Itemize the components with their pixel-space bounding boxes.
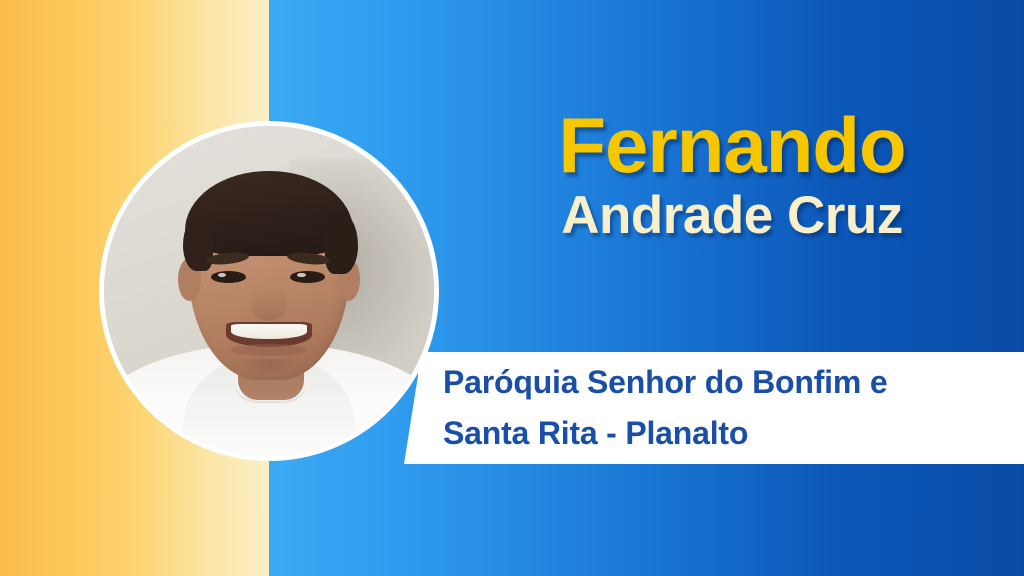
- presenter-last-name: Andrade Cruz: [440, 186, 1024, 246]
- portrait-photo: [104, 126, 434, 456]
- portrait-nose: [251, 288, 287, 321]
- name-block: Fernando Andrade Cruz: [440, 104, 1024, 246]
- organization-line-2: Santa Rita - Planalto: [443, 408, 1003, 459]
- portrait-teeth: [231, 324, 307, 339]
- portrait-eye-highlight-right: [297, 273, 306, 278]
- portrait-chin-shadow: [239, 359, 298, 376]
- organization-line-1: Paróquia Senhor do Bonfim e: [443, 357, 1003, 408]
- portrait-eye-left: [211, 271, 246, 283]
- organization-banner-text: Paróquia Senhor do Bonfim e Santa Rita -…: [443, 355, 1003, 461]
- presenter-title-card: Fernando Andrade Cruz: [0, 0, 1024, 576]
- presenter-avatar: [99, 121, 439, 461]
- presenter-first-name: Fernando: [440, 104, 1024, 186]
- portrait-lower-lip: [231, 344, 307, 356]
